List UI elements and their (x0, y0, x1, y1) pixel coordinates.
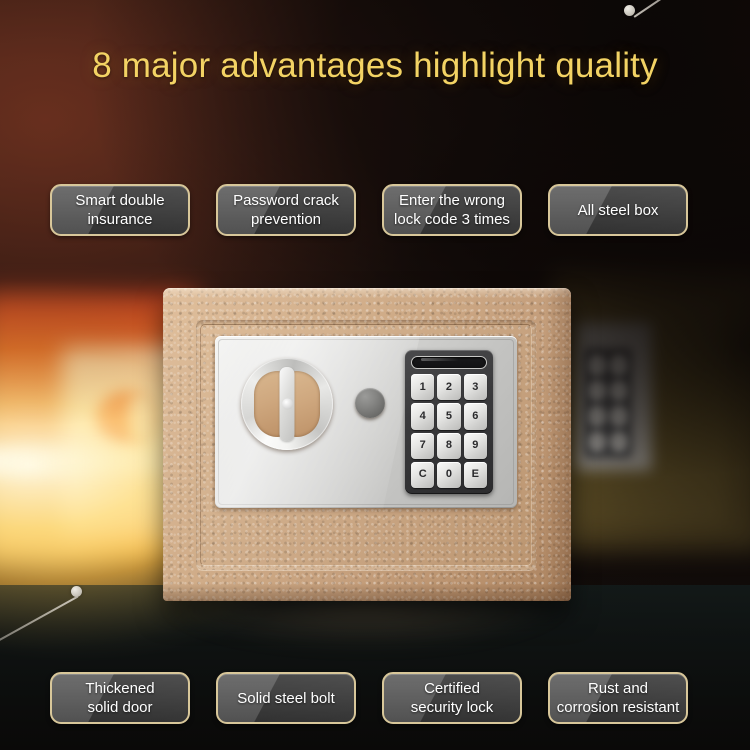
feature-badge-line: Password crack (233, 191, 339, 210)
product-poster: 8 major advantages highlight quality Sma… (0, 0, 750, 750)
keypad-key-6[interactable]: 6 (464, 403, 487, 429)
keypad-key-7[interactable]: 7 (411, 433, 434, 459)
keypad-display (411, 356, 487, 369)
connector-line-top-right (634, 0, 700, 17)
feature-badge-text: All steel box (578, 201, 659, 220)
keypad-key-8[interactable]: 8 (437, 433, 460, 459)
feature-badge-text: Certified security lock (411, 679, 494, 717)
safe-right-shading (545, 288, 571, 601)
keypad-key-enter[interactable]: E (464, 462, 487, 488)
safe-faceplate: 1 2 3 4 5 6 7 8 9 C 0 E (215, 336, 517, 508)
feature-badge-solid-steel-bolt[interactable]: Solid steel bolt (216, 672, 356, 724)
feature-badge-smart-double-insurance[interactable]: Smart double insurance (50, 184, 190, 236)
feature-badge-line: corrosion resistant (557, 698, 680, 717)
connector-dot-top-right (624, 5, 635, 16)
feature-badge-line: Solid steel bolt (237, 689, 335, 708)
keypad-key-grid[interactable]: 1 2 3 4 5 6 7 8 9 C 0 E (411, 374, 487, 488)
safe-handle-knob[interactable] (355, 388, 385, 418)
feature-badge-line: Thickened (85, 679, 154, 698)
background-floor-reflection (150, 600, 580, 660)
feature-badge-line: Smart double (75, 191, 164, 210)
feature-badge-password-crack-prevention[interactable]: Password crack prevention (216, 184, 356, 236)
feature-badge-rust-and-corrosion-resistant[interactable]: Rust and corrosion resistant (548, 672, 688, 724)
feature-badge-text: Solid steel bolt (237, 689, 335, 708)
keypad-key-4[interactable]: 4 (411, 403, 434, 429)
page-title: 8 major advantages highlight quality (0, 44, 750, 88)
feature-badge-text: Thickened solid door (85, 679, 154, 717)
safe-top-highlight (163, 288, 571, 298)
lock-crescent-right (290, 371, 320, 437)
safe-keypad[interactable]: 1 2 3 4 5 6 7 8 9 C 0 E (405, 350, 493, 494)
keypad-key-1[interactable]: 1 (411, 374, 434, 400)
feature-badge-thickened-solid-door[interactable]: Thickened solid door (50, 672, 190, 724)
feature-badge-certified-security-lock[interactable]: Certified security lock (382, 672, 522, 724)
keypad-key-clear[interactable]: C (411, 462, 434, 488)
background-gold-safe-keys (586, 352, 630, 454)
feature-badge-line: insurance (75, 210, 164, 229)
feature-badge-line: solid door (85, 698, 154, 717)
safe-door-panel[interactable]: 1 2 3 4 5 6 7 8 9 C 0 E (196, 320, 536, 570)
feature-badge-line: Certified (411, 679, 494, 698)
key-lock-icon[interactable] (241, 358, 333, 450)
safe-bottom-shading (163, 583, 571, 601)
feature-badge-text: Enter the wrong lock code 3 times (394, 191, 510, 229)
keypad-key-3[interactable]: 3 (464, 374, 487, 400)
keypad-key-0[interactable]: 0 (437, 462, 460, 488)
feature-badge-text: Smart double insurance (75, 191, 164, 229)
feature-badge-line: prevention (233, 210, 339, 229)
feature-badge-text: Password crack prevention (233, 191, 339, 229)
feature-badge-line: Rust and (557, 679, 680, 698)
feature-badge-enter-the-wrong-lock-code-3-times[interactable]: Enter the wrong lock code 3 times (382, 184, 522, 236)
feature-badge-all-steel-box[interactable]: All steel box (548, 184, 688, 236)
feature-badge-line: All steel box (578, 201, 659, 220)
feature-badge-line: lock code 3 times (394, 210, 510, 229)
feature-badge-text: Rust and corrosion resistant (557, 679, 680, 717)
safe-product[interactable]: 1 2 3 4 5 6 7 8 9 C 0 E (163, 288, 571, 601)
keypad-key-2[interactable]: 2 (437, 374, 460, 400)
feature-badge-line: security lock (411, 698, 494, 717)
keypad-key-9[interactable]: 9 (464, 433, 487, 459)
keypad-key-5[interactable]: 5 (437, 403, 460, 429)
feature-badge-line: Enter the wrong (394, 191, 510, 210)
background-red-safe-dial-bar (128, 392, 158, 444)
lock-center-bar (280, 367, 295, 441)
